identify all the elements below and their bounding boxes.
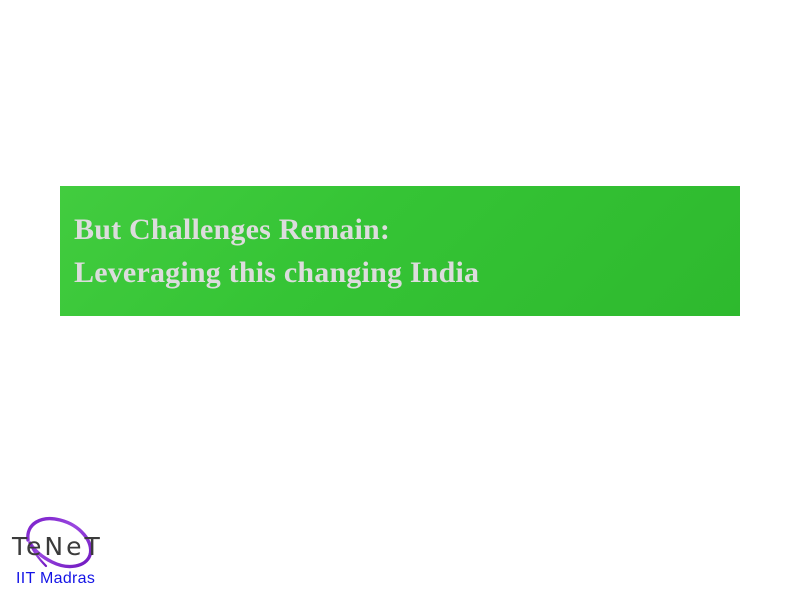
slide-title-banner: But Challenges Remain: Leveraging this c… (60, 186, 740, 316)
slide-title-line-2: Leveraging this changing India (68, 251, 740, 294)
tenet-logo-subtitle: IIT Madras (16, 570, 95, 588)
slide-title-line-1: But Challenges Remain: (68, 208, 740, 251)
presentation-slide: But Challenges Remain: Leveraging this c… (0, 0, 800, 600)
tenet-wordmark: TeNeT (12, 534, 103, 560)
tenet-logo: TeNeT IIT Madras (8, 514, 158, 596)
